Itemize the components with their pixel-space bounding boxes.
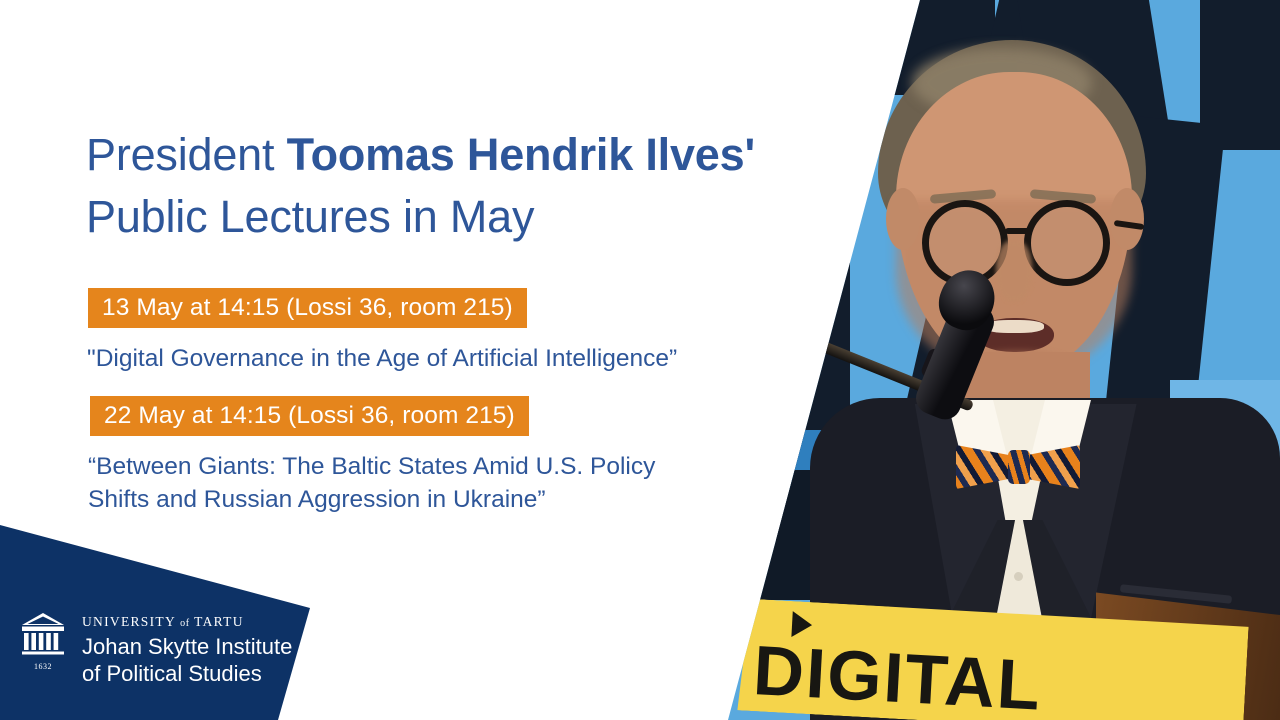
eyeglass-lens-right xyxy=(1024,200,1110,286)
logo-institute-name: Johan Skytte Institute of Political Stud… xyxy=(82,633,292,687)
logo-university-city: TARTU xyxy=(190,614,244,629)
logo-university-of: of xyxy=(180,618,190,629)
nose xyxy=(996,240,1032,302)
shirt-button xyxy=(1014,572,1023,581)
logo-text-block: UNIVERSITY of TARTU Johan Skytte Institu… xyxy=(82,612,292,687)
ear-left xyxy=(886,188,920,250)
logo-university-main: UNIVERSITY xyxy=(82,614,180,629)
page-title-plain: President xyxy=(86,129,287,180)
lecture-2-datetime-badge: 22 May at 14:15 (Lossi 36, room 215) xyxy=(90,396,529,436)
classical-temple-icon: 1632 xyxy=(20,612,66,674)
logo-lockup: 1632 UNIVERSITY of TARTU Johan Skytte In… xyxy=(20,612,292,687)
logo-university-name: UNIVERSITY of TARTU xyxy=(82,614,292,630)
eyeglass-bridge xyxy=(1005,228,1031,234)
lecture-1-title: "Digital Governance in the Age of Artifi… xyxy=(87,342,807,375)
logo-founded-year: 1632 xyxy=(20,662,66,671)
logo-panel: 1632 UNIVERSITY of TARTU Johan Skytte In… xyxy=(0,520,320,720)
lecture-1-datetime-badge: 13 May at 14:15 (Lossi 36, room 215) xyxy=(88,288,527,328)
bow-tie-wing-left xyxy=(956,442,1014,492)
podium-sign-label: DIGITAL xyxy=(752,635,1044,720)
page-title: President Toomas Hendrik Ilves' Public L… xyxy=(86,124,826,248)
backdrop-shape xyxy=(700,0,853,110)
page-title-line2: Public Lectures in May xyxy=(86,191,534,242)
ear-right xyxy=(1110,188,1144,250)
bow-tie-wing-right xyxy=(1022,442,1080,492)
bow-tie xyxy=(956,442,1080,492)
bow-tie-knot xyxy=(1008,450,1030,484)
poster-canvas: DIGITAL President Toomas Hendrik Ilves' … xyxy=(0,0,1280,720)
lecture-2-title: “Between Giants: The Baltic States Amid … xyxy=(88,450,768,516)
page-title-bold: Toomas Hendrik Ilves' xyxy=(287,129,755,180)
